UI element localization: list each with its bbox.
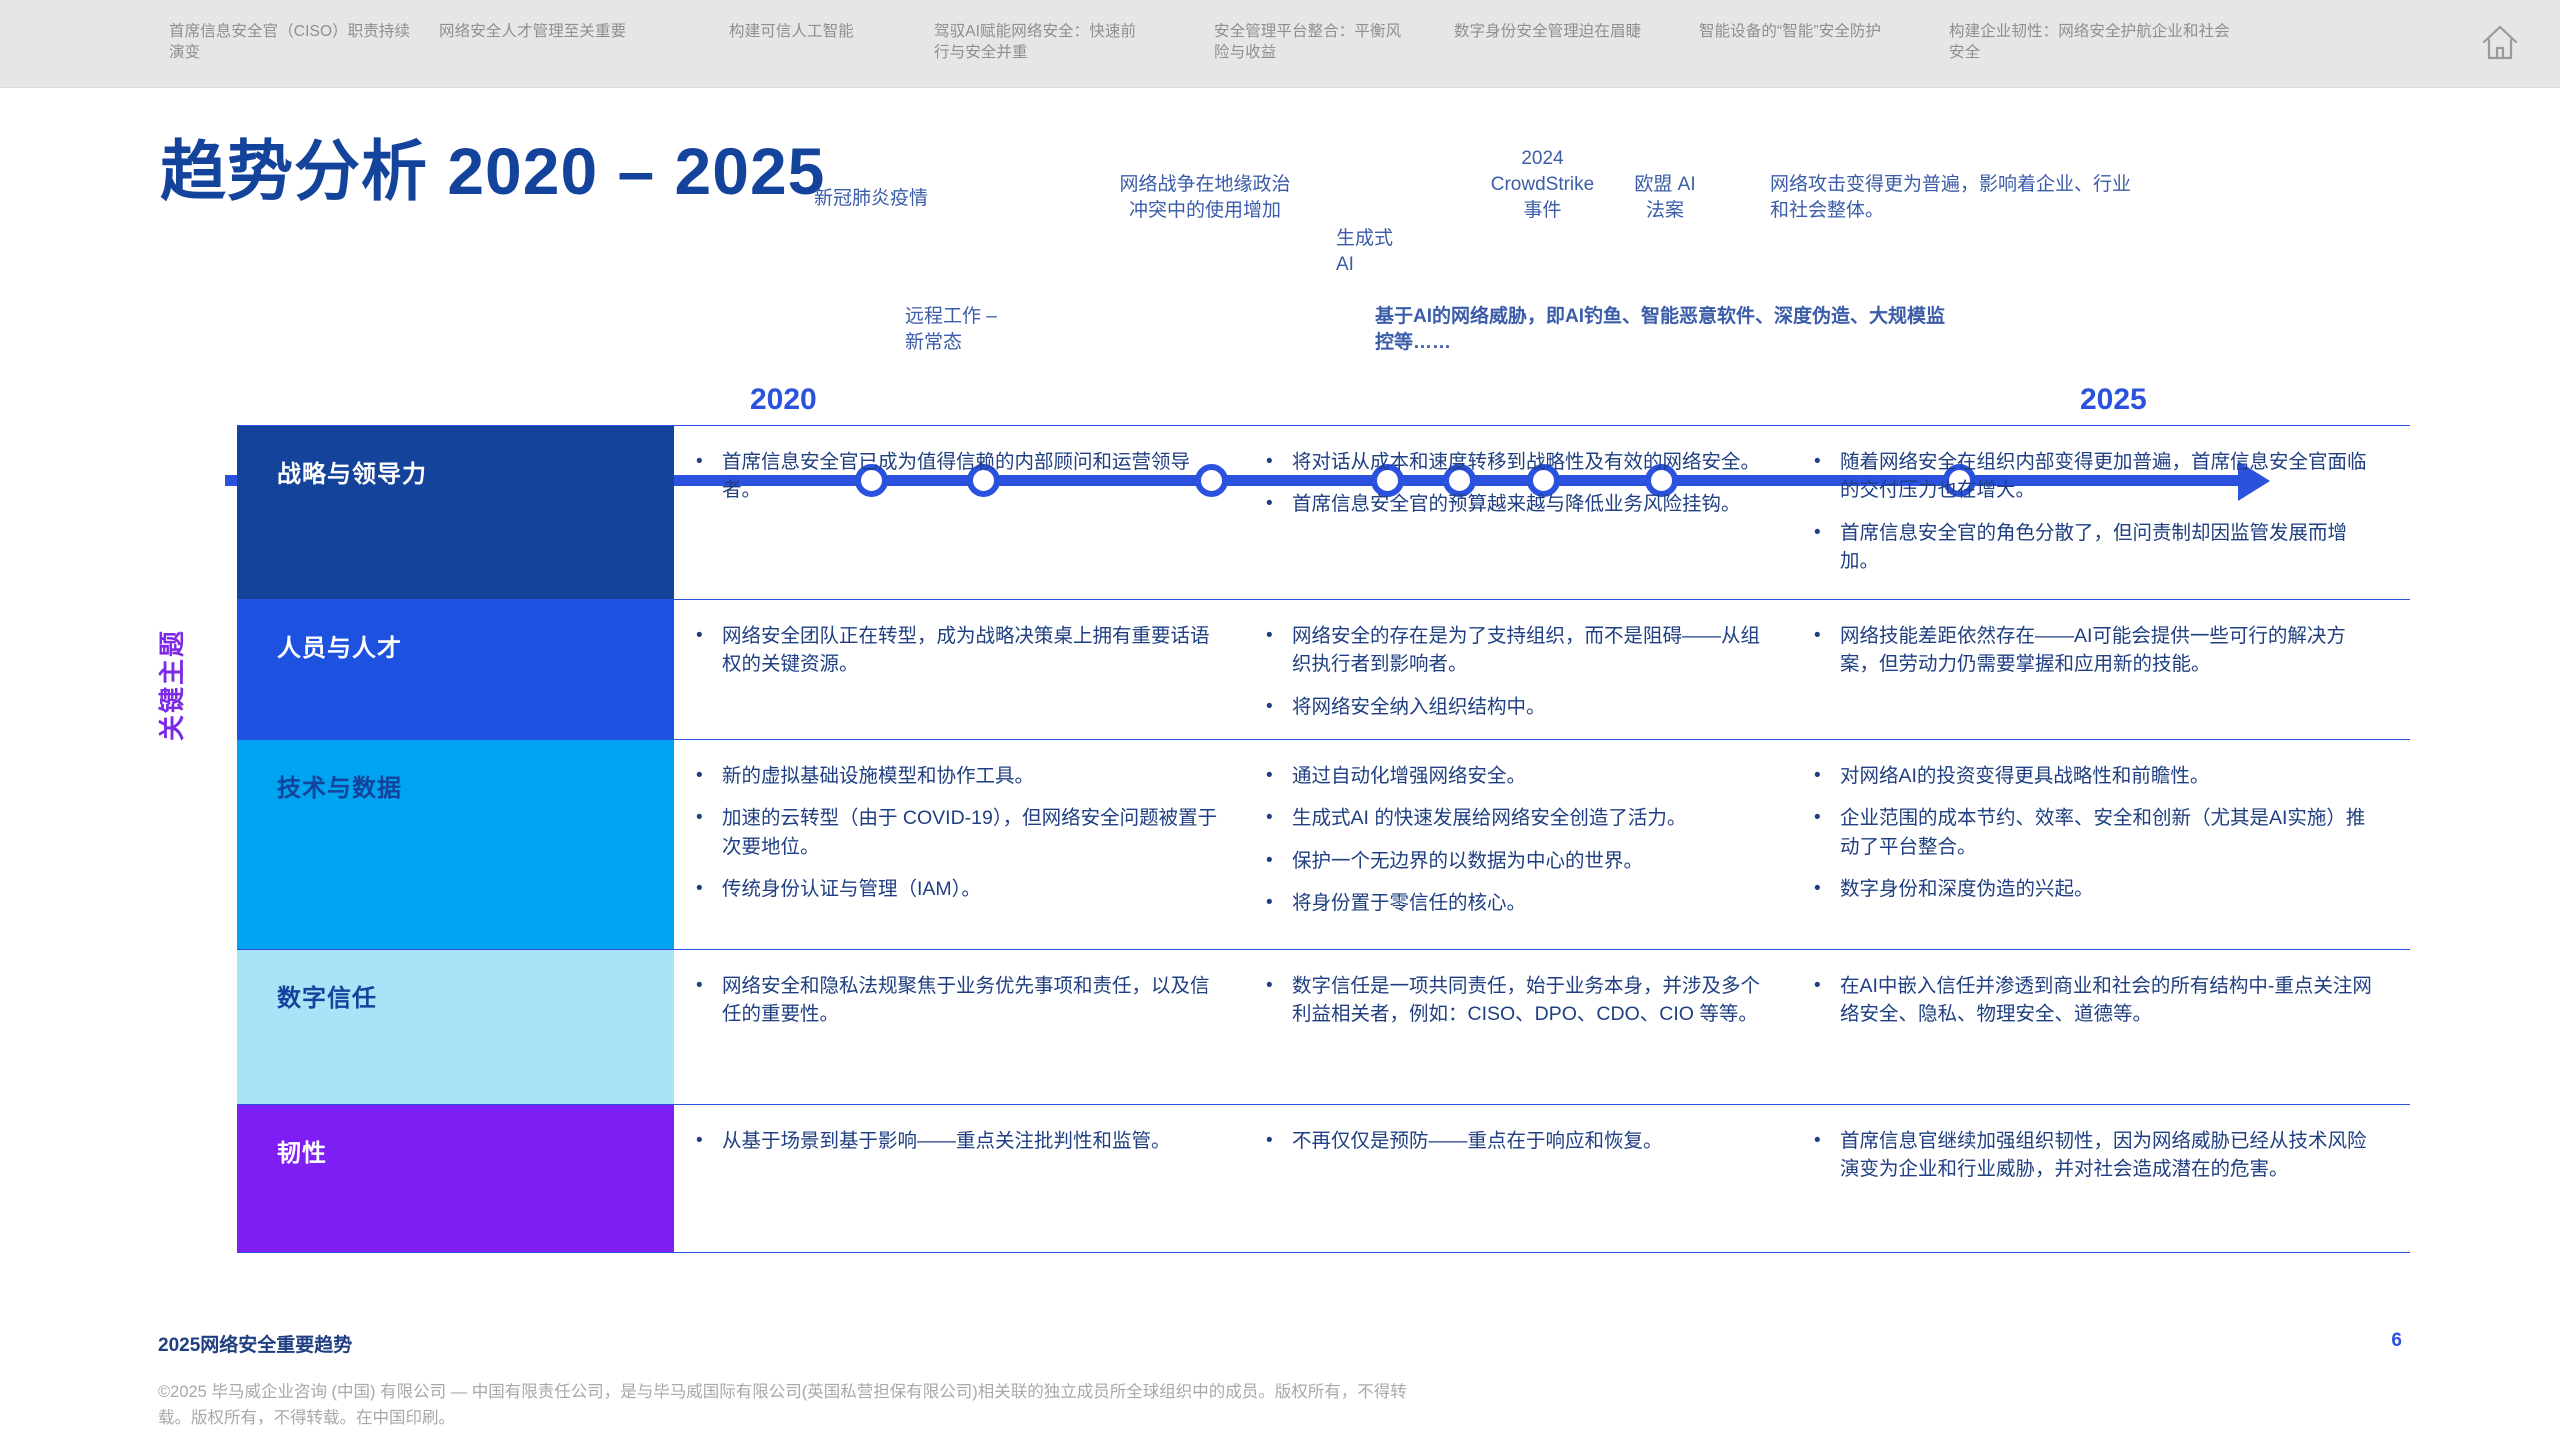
- row-theme-label: 人员与人才: [277, 628, 402, 663]
- bullet-icon: •: [1266, 762, 1292, 790]
- bullet-icon: •: [1266, 1127, 1292, 1155]
- row-cell-2020: •首席信息安全官已成为值得信赖的内部顾问和运营领导者。: [674, 448, 1244, 575]
- bullet-icon: •: [696, 448, 722, 505]
- bullet-icon: •: [1814, 519, 1840, 576]
- axis-label-key-themes: 关键主题: [152, 590, 192, 780]
- timeline-caption-widespread-attacks: 网络攻击变得更为普遍，影响着企业、行业 和社会整体。: [1770, 172, 2190, 224]
- top-navigation-bar: 首席信息安全官（CISO）职责持续演变 网络安全人才管理至关重要 构建可信人工智…: [0, 0, 2560, 88]
- bullet-icon: •: [1266, 804, 1292, 832]
- row-cell-mid: •网络安全的存在是为了支持组织，而不是阻碍——从组织执行者到影响者。 •将网络安…: [1244, 622, 1792, 715]
- row-cell-2025: •在AI中嵌入信任并渗透到商业和社会的所有结构中-重点关注网络安全、隐私、物理安…: [1792, 972, 2410, 1080]
- bullet-icon: •: [696, 1127, 722, 1155]
- list-item: •新的虚拟基础设施模型和协作工具。: [696, 762, 1218, 790]
- bullet-icon: •: [1266, 972, 1292, 1029]
- page-number: 6: [2391, 1330, 2402, 1352]
- row-theme-label: 韧性: [277, 1133, 327, 1168]
- row-theme-label: 数字信任: [277, 978, 377, 1013]
- bullet-icon: •: [696, 762, 722, 790]
- nav-item-trusted-ai[interactable]: 构建可信人工智能: [715, 22, 920, 43]
- list-item: •对网络AI的投资变得更具战略性和前瞻性。: [1814, 762, 2384, 790]
- bullet-icon: •: [696, 972, 722, 1029]
- list-item: •网络安全团队正在转型，成为战略决策桌上拥有重要话语权的关键资源。: [696, 622, 1218, 679]
- list-item: •首席信息安全官的角色分散了，但问责制却因监管发展而增加。: [1814, 519, 2384, 576]
- row-theme-people-talent: 人员与人才: [237, 600, 674, 739]
- row-theme-digital-trust: 数字信任: [237, 950, 674, 1104]
- row-cell-2020: •从基于场景到基于影响——重点关注批判性和监管。: [674, 1127, 1244, 1228]
- row-cell-2020: •网络安全团队正在转型，成为战略决策桌上拥有重要话语权的关键资源。: [674, 622, 1244, 715]
- timeline-caption-genai: 生成式 AI: [1336, 226, 1428, 278]
- list-item: •企业范围的成本节约、效率、安全和创新（尤其是AI实施）推动了平台整合。: [1814, 804, 2384, 861]
- list-item: •网络技能差距依然存在——AI可能会提供一些可行的解决方案，但劳动力仍需要掌握和…: [1814, 622, 2384, 679]
- row-cell-mid: •数字信任是一项共同责任，始于业务本身，并涉及多个利益相关者，例如：CISO、D…: [1244, 972, 1792, 1080]
- nav-item-talent-management[interactable]: 网络安全人才管理至关重要: [425, 22, 670, 43]
- table-row: 人员与人才 •网络安全团队正在转型，成为战略决策桌上拥有重要话语权的关键资源。 …: [237, 600, 2410, 740]
- list-item: •将身份置于零信任的核心。: [1266, 889, 1766, 917]
- row-cell-mid: •将对话从成本和速度转移到战略性及有效的网络安全。 •首席信息安全官的预算越来越…: [1244, 448, 1792, 575]
- table-row: 韧性 •从基于场景到基于影响——重点关注批判性和监管。 •不再仅仅是预防——重点…: [237, 1105, 2410, 1253]
- nav-item-digital-identity[interactable]: 数字身份安全管理迫在眉睫: [1440, 22, 1665, 43]
- row-theme-resilience: 韧性: [237, 1105, 674, 1252]
- row-cell-2020: •网络安全和隐私法规聚焦于业务优先事项和责任，以及信任的重要性。: [674, 972, 1244, 1080]
- timeline-caption-cyber-warfare: 网络战争在地缘政治 冲突中的使用增加: [1080, 172, 1330, 224]
- table-row: 技术与数据 •新的虚拟基础设施模型和协作工具。 •加速的云转型（由于 COVID…: [237, 740, 2410, 950]
- bullet-icon: •: [696, 622, 722, 679]
- list-item: •从基于场景到基于影响——重点关注批判性和监管。: [696, 1127, 1218, 1155]
- nav-item-ai-enabled-security[interactable]: 驾驭AI赋能网络安全：快速前行与安全并重: [920, 22, 1155, 64]
- list-item: •首席信息官继续加强组织韧性，因为网络威胁已经从技术风险演变为企业和行业威胁，并…: [1814, 1127, 2384, 1184]
- timeline: 新冠肺炎疫情 远程工作 – 新常态 网络战争在地缘政治 冲突中的使用增加 生成式…: [0, 196, 2560, 356]
- bullet-icon: •: [1266, 889, 1292, 917]
- row-theme-label: 战略与领导力: [277, 454, 427, 489]
- bullet-icon: •: [1266, 448, 1292, 476]
- list-item: •传统身份认证与管理（IAM）。: [696, 875, 1218, 903]
- timeline-caption-remote-work: 远程工作 – 新常态: [905, 304, 1105, 356]
- row-cell-2025: •随着网络安全在组织内部变得更加普遍，首席信息安全官面临的交付压力也在增大。 •…: [1792, 448, 2410, 575]
- nav-item-ciso-role[interactable]: 首席信息安全官（CISO）职责持续演变: [155, 22, 425, 64]
- timeline-caption-covid: 新冠肺炎疫情: [742, 186, 1000, 212]
- home-icon[interactable]: [2478, 20, 2522, 64]
- list-item: •不再仅仅是预防——重点在于响应和恢复。: [1266, 1127, 1766, 1155]
- bullet-icon: •: [1814, 762, 1840, 790]
- bullet-icon: •: [1814, 622, 1840, 679]
- bullet-icon: •: [1814, 972, 1840, 1029]
- row-theme-technology-data: 技术与数据: [237, 740, 674, 949]
- bullet-icon: •: [1266, 847, 1292, 875]
- list-item: •网络安全和隐私法规聚焦于业务优先事项和责任，以及信任的重要性。: [696, 972, 1218, 1029]
- nav-item-smart-device-security[interactable]: 智能设备的“智能”安全防护: [1685, 22, 1915, 43]
- row-cell-2025: •网络技能差距依然存在——AI可能会提供一些可行的解决方案，但劳动力仍需要掌握和…: [1792, 622, 2410, 715]
- timeline-caption-ai-threats: 基于AI的网络威胁，即AI钓鱼、智能恶意软件、深度伪造、大规模监控等……: [1375, 304, 1955, 356]
- row-cell-mid: •通过自动化增强网络安全。 •生成式AI 的快速发展给网络安全创造了活力。 •保…: [1244, 762, 1792, 925]
- list-item: •在AI中嵌入信任并渗透到商业和社会的所有结构中-重点关注网络安全、隐私、物理安…: [1814, 972, 2384, 1029]
- list-item: •保护一个无边界的以数据为中心的世界。: [1266, 847, 1766, 875]
- footer-copyright: ©2025 毕马威企业咨询 (中国) 有限公司 — 中国有限责任公司，是与毕马威…: [158, 1380, 1418, 1431]
- bullet-icon: •: [696, 875, 722, 903]
- slide-root: 首席信息安全官（CISO）职责持续演变 网络安全人才管理至关重要 构建可信人工智…: [0, 0, 2560, 1440]
- table-row: 数字信任 •网络安全和隐私法规聚焦于业务优先事项和责任，以及信任的重要性。 •数…: [237, 950, 2410, 1105]
- row-theme-strategy-leadership: 战略与领导力: [237, 426, 674, 599]
- list-item: •将网络安全纳入组织结构中。: [1266, 693, 1766, 721]
- list-item: •数字身份和深度伪造的兴起。: [1814, 875, 2384, 903]
- year-label-start: 2020: [750, 383, 817, 417]
- bullet-icon: •: [1814, 448, 1840, 505]
- list-item: •随着网络安全在组织内部变得更加普遍，首席信息安全官面临的交付压力也在增大。: [1814, 448, 2384, 505]
- list-item: •首席信息安全官已成为值得信赖的内部顾问和运营领导者。: [696, 448, 1218, 505]
- bullet-icon: •: [1266, 693, 1292, 721]
- bullet-icon: •: [1266, 622, 1292, 679]
- list-item: •将对话从成本和速度转移到战略性及有效的网络安全。: [1266, 448, 1766, 476]
- year-label-end: 2025: [2080, 383, 2147, 417]
- table-row: 战略与领导力 •首席信息安全官已成为值得信赖的内部顾问和运营领导者。 •将对话从…: [237, 425, 2410, 600]
- list-item: •加速的云转型（由于 COVID-19），但网络安全问题被置于次要地位。: [696, 804, 1218, 861]
- list-item: •网络安全的存在是为了支持组织，而不是阻碍——从组织执行者到影响者。: [1266, 622, 1766, 679]
- list-item: •数字信任是一项共同责任，始于业务本身，并涉及多个利益相关者，例如：CISO、D…: [1266, 972, 1766, 1029]
- nav-item-platform-consolidation[interactable]: 安全管理平台整合：平衡风险与收益: [1200, 22, 1420, 64]
- list-item: •通过自动化增强网络安全。: [1266, 762, 1766, 790]
- bullet-icon: •: [1814, 804, 1840, 861]
- bullet-icon: •: [696, 804, 722, 861]
- bullet-icon: •: [1814, 1127, 1840, 1184]
- row-cell-2025: •对网络AI的投资变得更具战略性和前瞻性。 •企业范围的成本节约、效率、安全和创…: [1792, 762, 2410, 925]
- row-cell-2020: •新的虚拟基础设施模型和协作工具。 •加速的云转型（由于 COVID-19），但…: [674, 762, 1244, 925]
- row-cell-2025: •首席信息官继续加强组织韧性，因为网络威胁已经从技术风险演变为企业和行业威胁，并…: [1792, 1127, 2410, 1228]
- bullet-icon: •: [1814, 875, 1840, 903]
- list-item: •生成式AI 的快速发展给网络安全创造了活力。: [1266, 804, 1766, 832]
- trend-table: 战略与领导力 •首席信息安全官已成为值得信赖的内部顾问和运营领导者。 •将对话从…: [237, 425, 2410, 1253]
- nav-item-enterprise-resilience[interactable]: 构建企业韧性：网络安全护航企业和社会安全: [1935, 22, 2255, 64]
- row-theme-label: 技术与数据: [277, 768, 402, 803]
- list-item: •首席信息安全官的预算越来越与降低业务风险挂钩。: [1266, 490, 1766, 518]
- timeline-caption-eu-ai-act: 欧盟 AI 法案: [1600, 172, 1730, 224]
- footer-document-title: 2025网络安全重要趋势: [158, 1330, 352, 1357]
- bullet-icon: •: [1266, 490, 1292, 518]
- row-cell-mid: •不再仅仅是预防——重点在于响应和恢复。: [1244, 1127, 1792, 1228]
